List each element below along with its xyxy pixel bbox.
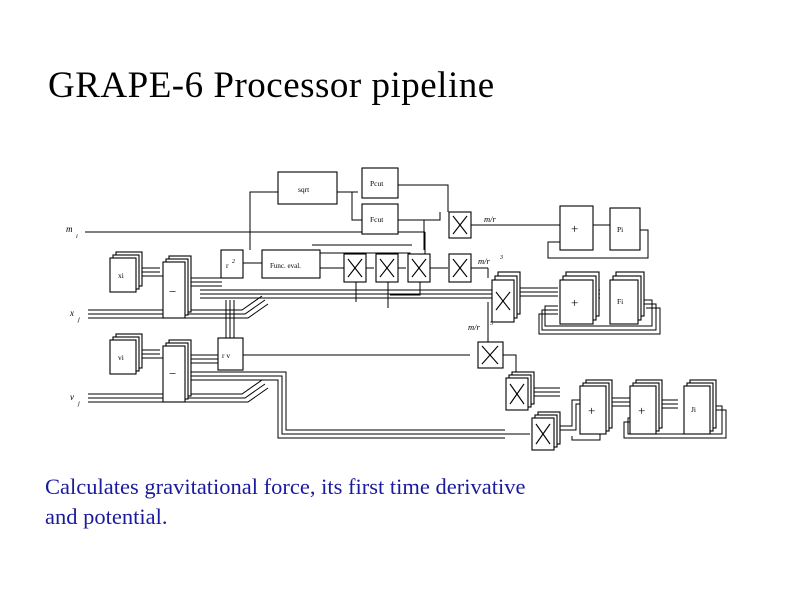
block-sqrt-label: sqrt xyxy=(298,185,310,194)
register-pi-label: Pi xyxy=(617,225,623,234)
register-fi[interactable]: Fi xyxy=(610,272,644,324)
block-r-dot-v-label: r v xyxy=(222,351,230,360)
operator-add-f[interactable]: + xyxy=(560,272,599,324)
pipeline-diagram: m i x j v j xi − xyxy=(0,150,800,460)
operator-multiply-mr[interactable] xyxy=(449,212,471,238)
operator-subtract-v[interactable]: − xyxy=(163,340,191,402)
operator-add-p-symbol: + xyxy=(571,221,578,236)
caption-line-2: and potential. xyxy=(45,502,755,532)
slide-caption: Calculates gravitational force, its firs… xyxy=(45,472,755,532)
operator-add-jerk-2-symbol: + xyxy=(638,403,645,418)
bus-label-mr5-text: m/r xyxy=(468,322,481,332)
operator-multiply-1[interactable] xyxy=(344,254,366,282)
operator-add-jerk-1-symbol: + xyxy=(588,403,595,418)
caption-line-1: Calculates gravitational force, its firs… xyxy=(45,472,755,502)
operator-subtract-x[interactable]: − xyxy=(163,256,191,318)
block-r-squared[interactable]: r 2 xyxy=(221,250,243,278)
input-label-mi-sub: i xyxy=(76,233,78,240)
slide-root: GRAPE-6 Processor pipeline xyxy=(0,0,800,600)
bus-label-mr3-exponent: 3 xyxy=(499,255,503,261)
operator-subtract-v-symbol: − xyxy=(169,366,176,381)
input-label-vj-sub: j xyxy=(77,400,80,407)
block-pcut[interactable]: Pcut xyxy=(362,168,398,198)
bus-label-mr-text: m/r xyxy=(484,214,497,224)
bus-label-mr5: m/r 5 xyxy=(468,321,493,332)
operator-multiply-force[interactable] xyxy=(492,272,520,322)
block-r-squared-exponent: 2 xyxy=(232,259,235,265)
input-labels: m i x j v j xyxy=(66,224,80,407)
input-label-xj: x xyxy=(69,308,74,318)
register-pi[interactable]: Pi xyxy=(610,208,640,250)
operator-multiply-jerk-2[interactable] xyxy=(532,412,560,450)
bus-label-mr: m/r xyxy=(484,214,497,224)
block-sqrt[interactable]: sqrt xyxy=(278,172,337,204)
input-label-xj-sub: j xyxy=(77,316,80,323)
operator-multiply-mr5[interactable] xyxy=(478,342,503,368)
bus-label-mr3-text: m/r xyxy=(478,256,491,266)
operator-add-p[interactable]: + xyxy=(560,206,593,250)
pipeline-diagram-svg: m i x j v j xi − xyxy=(0,150,800,460)
register-vi-label: vi xyxy=(118,353,124,362)
bus-label-mr3: m/r 3 xyxy=(478,255,503,266)
operator-multiply-2[interactable] xyxy=(376,254,398,282)
register-xi[interactable]: xi xyxy=(110,252,142,292)
block-fcut[interactable]: Fcut xyxy=(362,204,398,234)
block-func-eval-label: Func. eval. xyxy=(270,262,301,270)
operator-subtract-x-symbol: − xyxy=(169,284,176,299)
register-vi[interactable]: vi xyxy=(110,334,142,374)
block-func-eval[interactable]: Func. eval. xyxy=(262,250,320,278)
operator-add-f-symbol: + xyxy=(571,295,578,310)
register-ji-label: Ji xyxy=(691,405,696,414)
operator-add-jerk-2[interactable]: + xyxy=(630,380,662,434)
block-fcut-label: Fcut xyxy=(370,215,384,224)
block-r-dot-v[interactable]: r v xyxy=(218,338,243,370)
register-fi-label: Fi xyxy=(617,297,623,306)
register-xi-label: xi xyxy=(118,271,124,280)
operator-multiply-3[interactable] xyxy=(408,254,430,282)
input-label-vj: v xyxy=(70,392,74,402)
page-title: GRAPE-6 Processor pipeline xyxy=(48,64,495,107)
register-ji[interactable]: Ji xyxy=(684,380,716,434)
block-pcut-label: Pcut xyxy=(370,179,384,188)
operator-multiply-4[interactable] xyxy=(449,254,471,282)
operator-multiply-jerk-1[interactable] xyxy=(506,372,534,410)
input-label-mi: m xyxy=(66,224,73,234)
operator-add-jerk-1[interactable]: + xyxy=(580,380,612,434)
